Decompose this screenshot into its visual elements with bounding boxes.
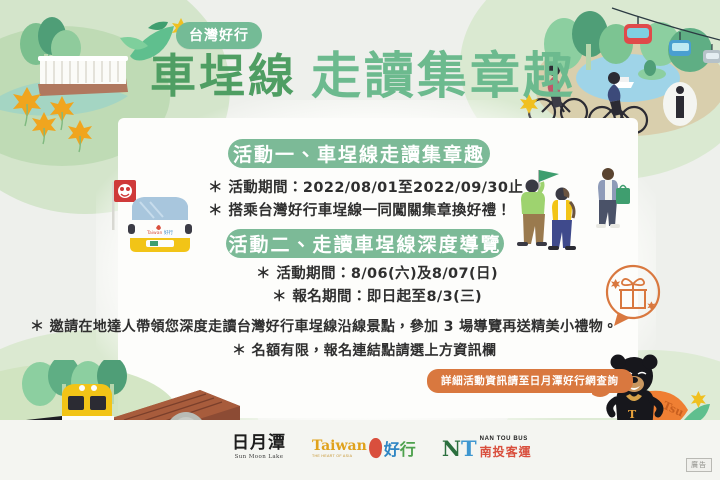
logo-nantou-mark: NT	[442, 438, 477, 459]
activity-two-line-2: ＊ 報名期間：即日起至8/3(三)	[272, 285, 482, 306]
logo-taiwan-tourist-shuttle: Taiwan THE HEART OF ASIA 好行	[312, 436, 416, 460]
activity-one-line-2: ＊ 搭乘台灣好行車埕線一同闖關集章換好禮！	[208, 199, 511, 220]
logo-taiwan-wordmark: Taiwan THE HEART OF ASIA	[312, 439, 367, 458]
logo-nantou-chinese: 南投客運	[480, 443, 532, 460]
title-campaign-name: 走讀集章趣	[311, 51, 576, 101]
tour-guide-and-tourists-illustration	[508, 162, 638, 272]
logo-taiwan-chinese: 好行	[384, 436, 416, 460]
activity-one-line-1: ＊ 活動期間：2022/08/01至2022/09/30止	[208, 176, 523, 197]
taiwan-island-icon	[368, 437, 383, 458]
info-badge[interactable]: 詳細活動資訊請至日月潭好行網查詢	[427, 369, 633, 393]
shuttle-bus-illustration: Taiwan 好行	[100, 172, 212, 268]
logo-nantou-bus: NT NAN TOU BUS 南投客運	[442, 436, 532, 460]
activity-two-banner: 活動二、走讀車埕線深度導覽	[226, 229, 504, 258]
logo-sun-moon-lake-english: Sun Moon Lake	[235, 455, 284, 461]
note-line-2: ＊ 名額有限，報名連結點請選上方資訊欄	[232, 340, 496, 360]
logo-sun-moon-lake: 日月潭 Sun Moon Lake	[232, 435, 286, 461]
logo-bar: 日月潭 Sun Moon Lake Taiwan THE HEART OF AS…	[232, 428, 532, 468]
activity-two-line-1: ＊ 活動期間：8/06(六)及8/07(日)	[256, 262, 498, 283]
title-route-name: 車埕線	[150, 53, 297, 99]
svg-text:Taiwan: Taiwan	[146, 230, 162, 236]
note-line-1: ＊ 邀請在地達人帶領您深度走讀台灣好行車埕線沿線景點，參加 3 場導覽再送精美小…	[30, 316, 618, 336]
logo-nantou-english: NAN TOU BUS	[480, 436, 532, 442]
activity-one-banner: 活動一、車埕線走讀集章趣	[228, 139, 490, 168]
svg-text:好行: 好行	[164, 229, 173, 236]
logo-taiwan-tagline: THE HEART OF ASIA	[312, 454, 352, 458]
poster-title: 車埕線 走讀集章趣	[150, 44, 610, 108]
logo-taiwan-english: Taiwan	[312, 439, 367, 453]
logo-nantou-text: NAN TOU BUS 南投客運	[480, 436, 532, 460]
poster-root: Taiwan 好行	[0, 0, 720, 480]
logo-sun-moon-lake-chinese: 日月潭	[232, 435, 286, 452]
advertisement-label: 廣告	[686, 458, 712, 472]
